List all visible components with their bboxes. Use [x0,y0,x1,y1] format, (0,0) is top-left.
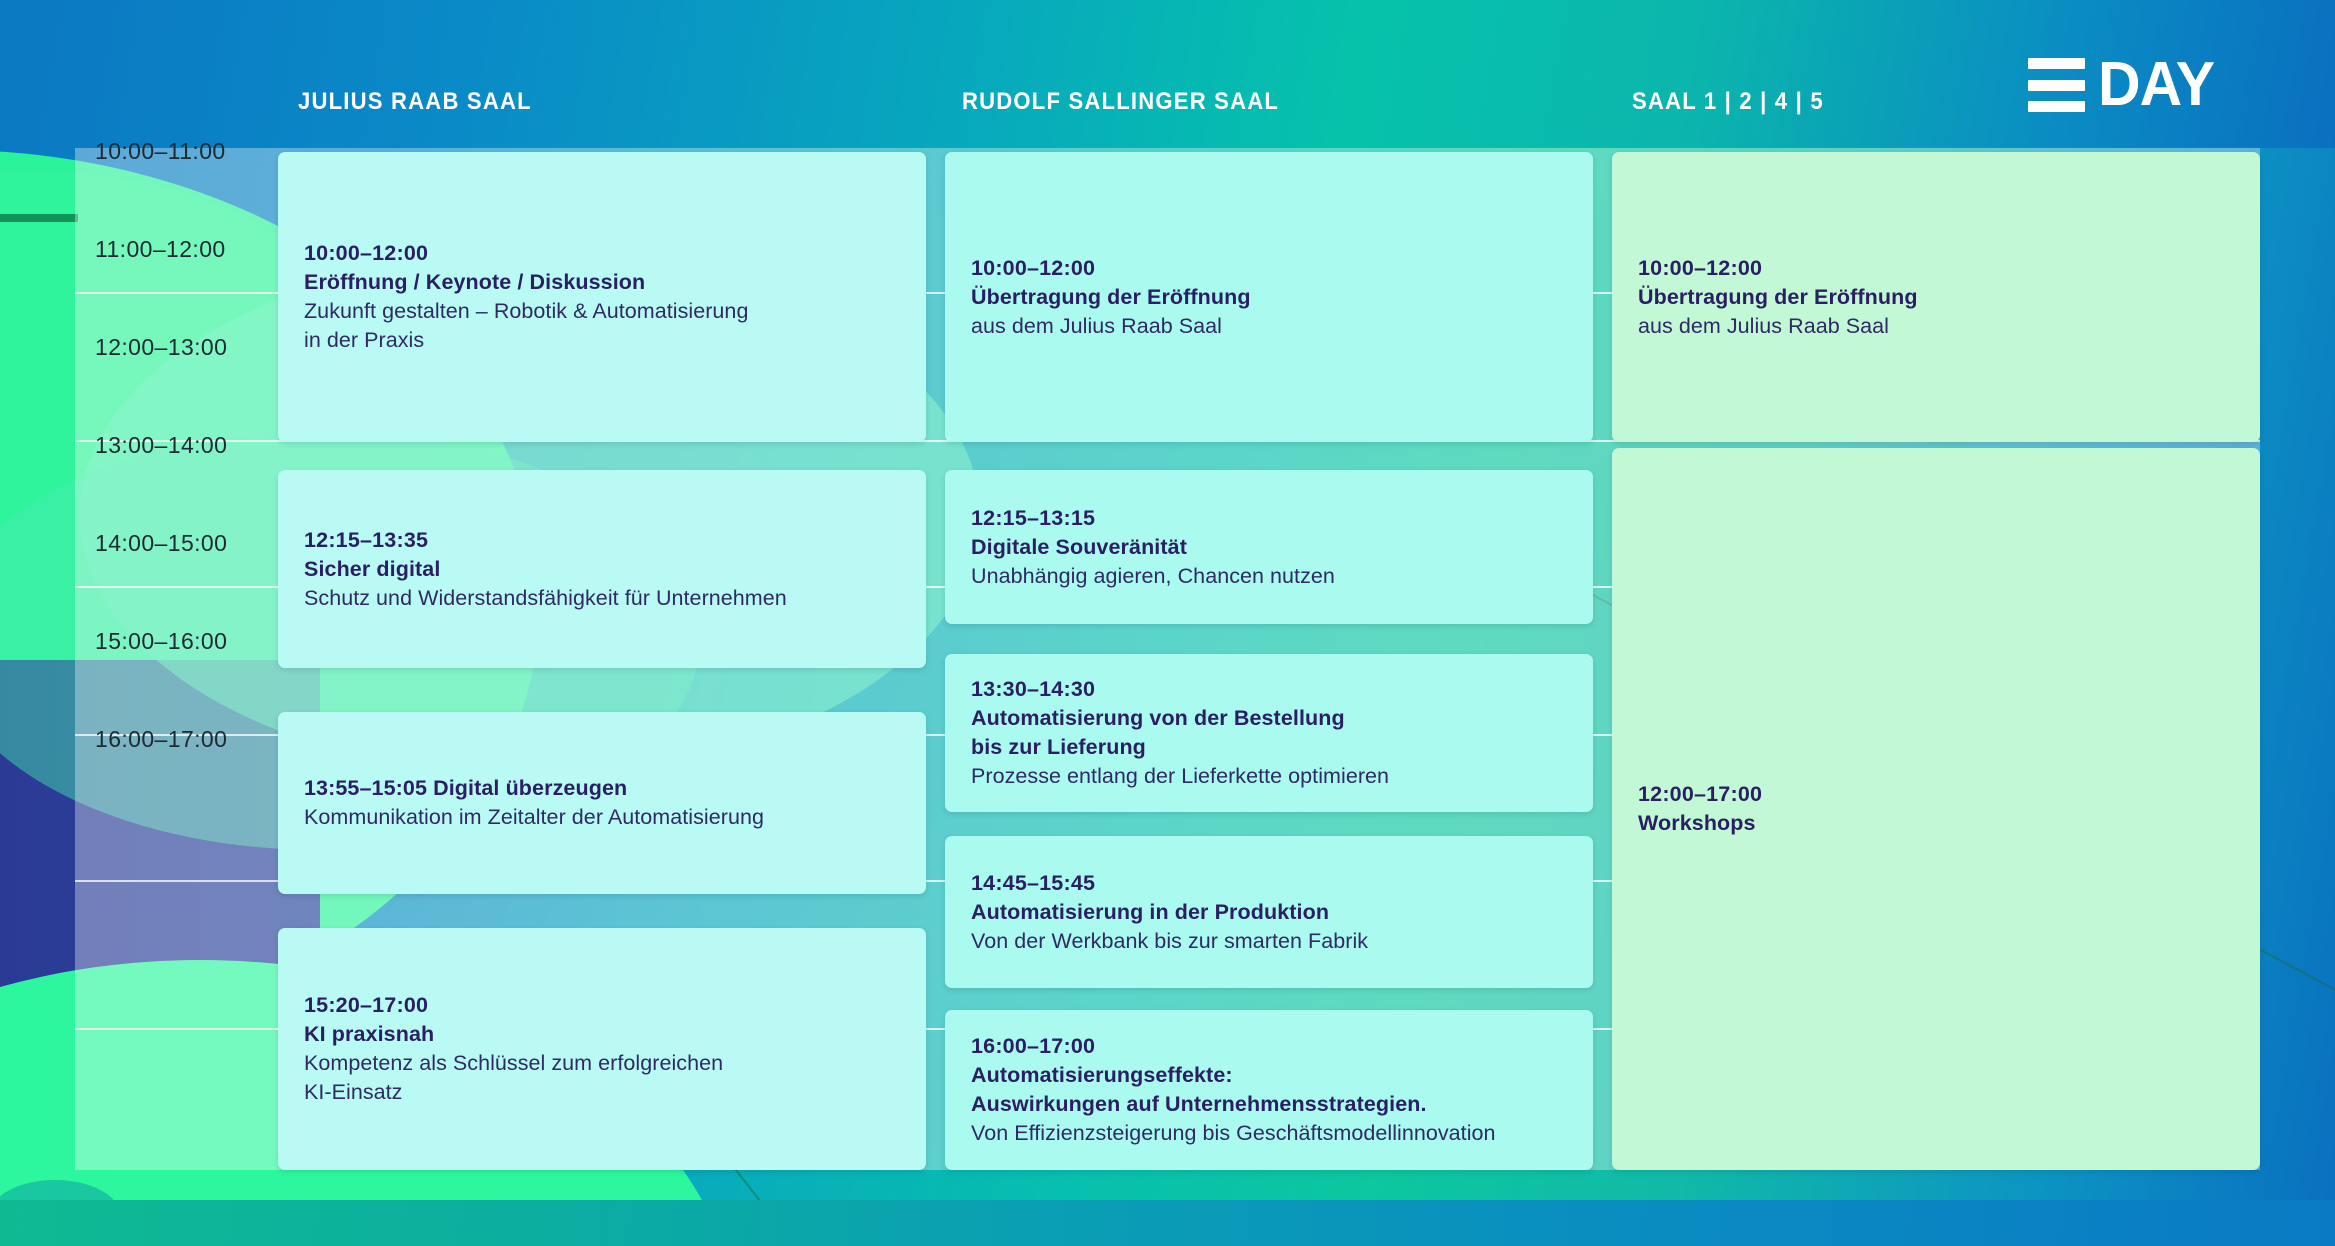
time-axis: 10:00–11:00 11:00–12:00 12:00–13:00 13:0… [75,148,275,1170]
session-title: KI praxisnah [304,1020,900,1049]
session-desc: Von Effizienzsteigerung bis Geschäftsmod… [971,1119,1567,1148]
session-card[interactable]: 12:00–17:00 Workshops [1612,448,2260,1170]
session-time: 10:00–12:00 [971,254,1567,283]
session-card[interactable]: 10:00–12:00 Eröffnung / Keynote / Diskus… [278,152,926,442]
session-desc: Schutz und Widerstandsfähigkeit für Unte… [304,584,900,613]
bg-bottom-band [0,1200,2335,1246]
session-card[interactable]: 10:00–12:00 Übertragung der Eröffnung au… [945,152,1593,442]
session-card[interactable]: 15:20–17:00 KI praxisnah Kompetenz als S… [278,928,926,1170]
session-desc: Zukunft gestalten – Robotik & Automatisi… [304,297,900,326]
session-title: Automatisierung von der Bestellung [971,704,1567,733]
time-slot-label: 12:00–13:00 [95,334,227,361]
time-slot-label: 16:00–17:00 [95,726,227,753]
session-desc: Prozesse entlang der Lieferkette optimie… [971,762,1567,791]
session-title: Automatisierung in der Produktion [971,898,1567,927]
session-title: Sicher digital [304,555,900,584]
session-desc: Kompetenz als Schlüssel zum erfolgreiche… [304,1049,900,1078]
time-slot-label: 14:00–15:00 [95,530,227,557]
session-time: 15:20–17:00 [304,991,900,1020]
session-card[interactable]: 10:00–12:00 Übertragung der Eröffnung au… [1612,152,2260,442]
session-card[interactable]: 12:15–13:15 Digitale Souveränität Unabhä… [945,470,1593,624]
session-title: Automatisierungseffekte: [971,1061,1567,1090]
session-desc: KI-Einsatz [304,1078,900,1107]
three-bar-e-icon [2028,58,2085,112]
session-time: 10:00–12:00 [304,239,900,268]
session-title: Übertragung der Eröffnung [1638,283,2234,312]
session-time: 13:30–14:30 [971,675,1567,704]
session-desc: aus dem Julius Raab Saal [971,312,1567,341]
time-slot-label: 15:00–16:00 [95,628,227,655]
session-time: 16:00–17:00 [971,1032,1567,1061]
session-title: Eröffnung / Keynote / Diskussion [304,268,900,297]
session-desc: Kommunikation im Zeitalter der Automatis… [304,803,900,832]
session-title-line2: Auswirkungen auf Unternehmensstrategien. [971,1090,1567,1119]
session-title: Übertragung der Eröffnung [971,283,1567,312]
accent-dash [0,214,78,222]
time-slot-label: 11:00–12:00 [95,236,226,263]
session-card[interactable]: 12:15–13:35 Sicher digital Schutz und Wi… [278,470,926,668]
session-card[interactable]: 13:30–14:30 Automatisierung von der Best… [945,654,1593,812]
session-title: Digitale Souveränität [971,533,1567,562]
schedule-page: JULIUS RAAB SAAL RUDOLF SALLINGER SAAL S… [0,0,2335,1246]
column-header-rudolf-sallinger-saal: RUDOLF SALLINGER SAAL [962,88,1279,116]
eday-logo: DAY [2028,58,2220,112]
column-header-julius-raab-saal: JULIUS RAAB SAAL [298,88,532,116]
session-time: 12:15–13:15 [971,504,1567,533]
session-card[interactable]: 16:00–17:00 Automatisierungseffekte: Aus… [945,1010,1593,1170]
session-title-line2: bis zur Lieferung [971,733,1567,762]
logo-wordmark: DAY [2098,58,2214,112]
session-desc: Unabhängig agieren, Chancen nutzen [971,562,1567,591]
session-title: Workshops [1638,809,2234,838]
session-time: 12:15–13:35 [304,526,900,555]
time-slot-label: 13:00–14:00 [95,432,227,459]
session-desc: aus dem Julius Raab Saal [1638,312,2234,341]
time-slot-label: 10:00–11:00 [95,138,226,165]
session-card[interactable]: 14:45–15:45 Automatisierung in der Produ… [945,836,1593,988]
session-desc: Von der Werkbank bis zur smarten Fabrik [971,927,1567,956]
session-time-title: 13:55–15:05 Digital überzeugen [304,774,900,803]
header-bar [0,0,2335,148]
column-header-saal-1-2-4-5: SAAL 1 | 2 | 4 | 5 [1632,88,1824,116]
session-time: 10:00–12:00 [1638,254,2234,283]
session-card[interactable]: 13:55–15:05 Digital überzeugen Kommunika… [278,712,926,894]
session-time: 12:00–17:00 [1638,780,2234,809]
session-time: 14:45–15:45 [971,869,1567,898]
session-desc: in der Praxis [304,326,900,355]
